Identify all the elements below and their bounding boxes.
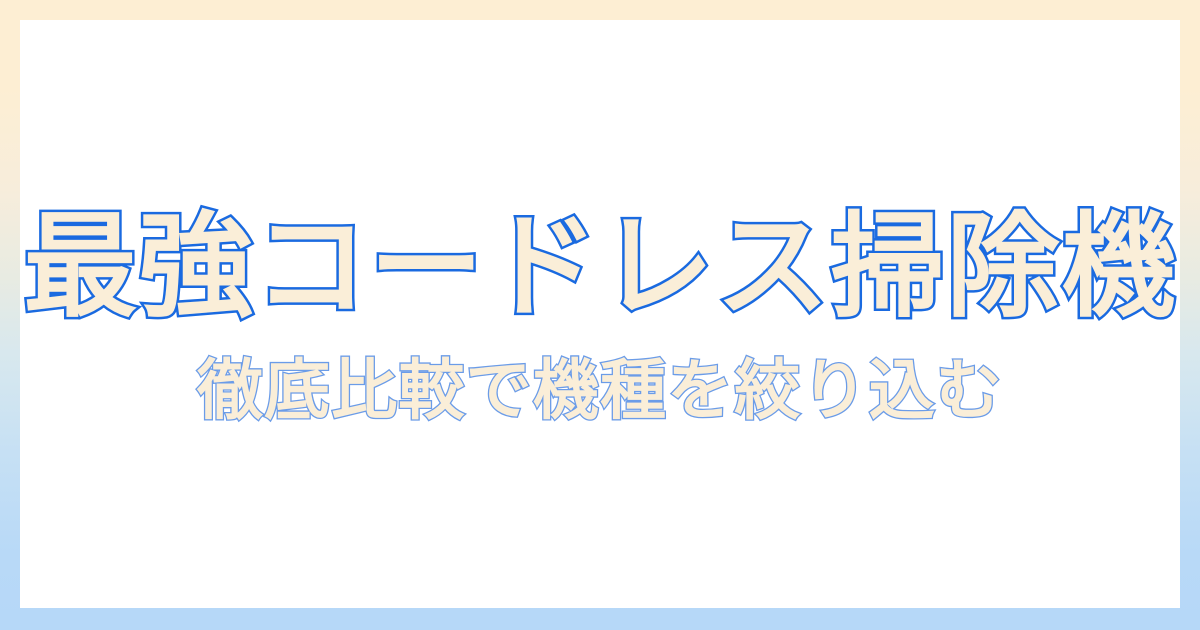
- page-subtitle: 徹底比較で機種を絞り込む: [197, 358, 1003, 424]
- inner-white-card: 最強コードレス掃除機 徹底比較で機種を絞り込む: [20, 20, 1180, 608]
- text-stack: 最強コードレス掃除機 徹底比較で機種を絞り込む: [20, 20, 1180, 608]
- page-title: 最強コードレス掃除機: [23, 210, 1177, 324]
- subheadline-block: 徹底比較で機種を絞り込む: [197, 358, 1003, 424]
- eyecatch-canvas: 最強コードレス掃除機 徹底比較で機種を絞り込む: [0, 0, 1200, 630]
- headline-block: 最強コードレス掃除機: [23, 210, 1177, 324]
